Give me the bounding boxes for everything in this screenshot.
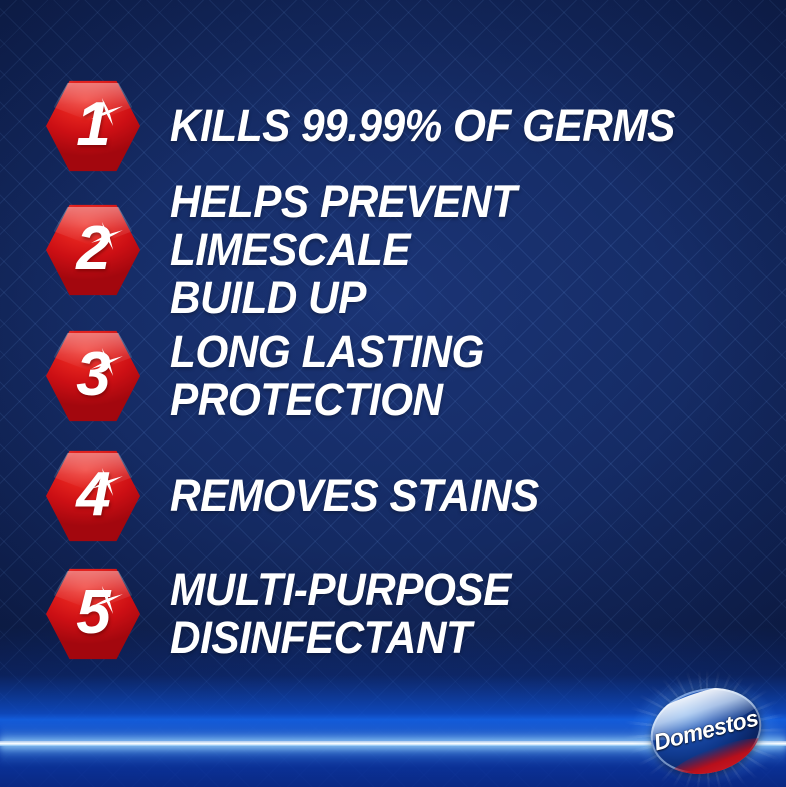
benefit-label: REMOVES STAINS bbox=[170, 472, 539, 520]
badge-number: 3 bbox=[46, 329, 140, 423]
badge-number: 1 bbox=[46, 79, 140, 173]
benefit-row-2: 2 HELPS PREVENT LIMESCALE BUILD UP bbox=[46, 198, 776, 302]
benefit-label: LONG LASTING PROTECTION bbox=[170, 328, 740, 423]
benefit-row-3: 3 LONG LASTING PROTECTION bbox=[46, 328, 776, 424]
brand-logo: Domestos bbox=[632, 679, 780, 783]
hex-badge-2: 2 bbox=[46, 203, 140, 297]
hex-badge-4: 4 bbox=[46, 449, 140, 543]
benefit-row-4: 4 REMOVES STAINS bbox=[46, 448, 776, 544]
benefit-label: HELPS PREVENT LIMESCALE BUILD UP bbox=[170, 178, 740, 321]
hex-badge-3: 3 bbox=[46, 329, 140, 423]
hex-badge-1: 1 bbox=[46, 79, 140, 173]
product-benefits-poster: 1 KILLS 99.99% OF GERMS 2 HELPS PREVENT … bbox=[0, 0, 786, 787]
badge-number: 5 bbox=[46, 567, 140, 661]
benefit-label: KILLS 99.99% OF GERMS bbox=[170, 102, 675, 150]
badge-number: 4 bbox=[46, 449, 140, 543]
hex-badge-5: 5 bbox=[46, 567, 140, 661]
benefit-row-1: 1 KILLS 99.99% OF GERMS bbox=[46, 78, 776, 174]
badge-number: 2 bbox=[46, 203, 140, 297]
